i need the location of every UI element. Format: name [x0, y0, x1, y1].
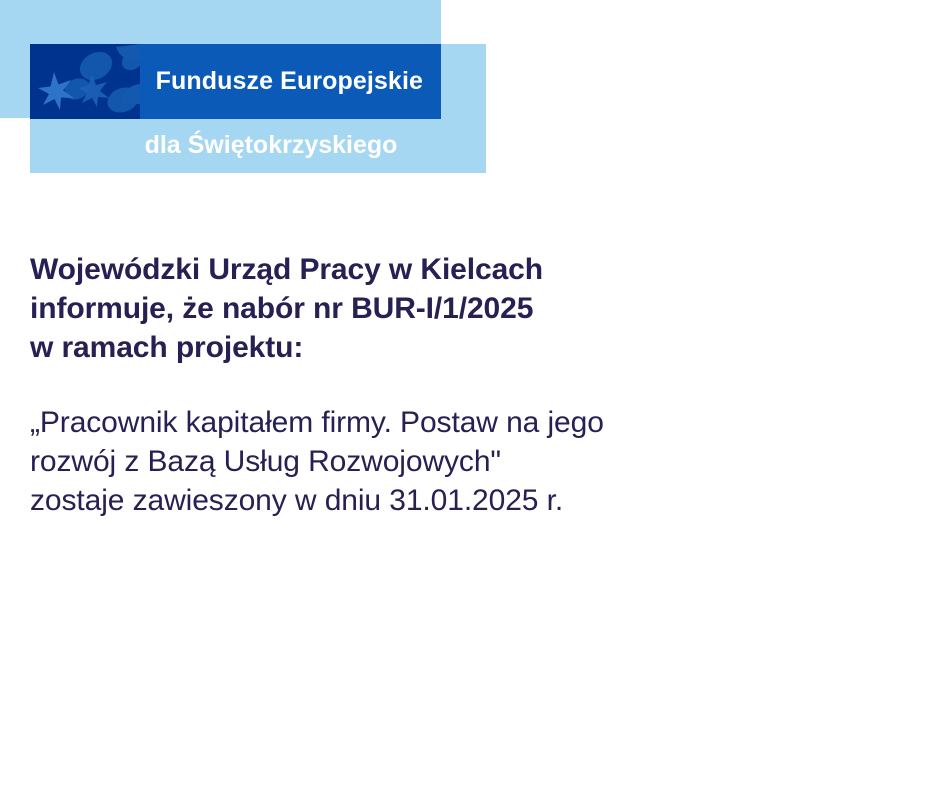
announcement-body: „Pracownik kapitałem firmy. Postaw na je… — [30, 403, 890, 520]
footer-logo-strip: Fundusze Europejskie dla Świętokrzyskieg… — [0, 678, 940, 788]
brand-plate-spur — [441, 44, 486, 118]
header-brand-block: Fundusze Europejskie dla Świętokrzyskieg… — [0, 0, 486, 174]
fe-subline: dla Świętokrzyskiego — [30, 118, 486, 173]
eu-stars-mark-icon — [30, 44, 140, 119]
fe-wordmark: Fundusze Europejskie — [140, 44, 441, 119]
announcement-headline: Wojewódzki Urząd Pracy w Kielcachinformu… — [30, 250, 890, 367]
fe-brand-name: Fundusze Europejskie — [156, 67, 423, 96]
announcement-message: Wojewódzki Urząd Pracy w Kielcachinformu… — [30, 250, 890, 520]
fundusze-europejskie-logo: Fundusze Europejskie — [30, 44, 441, 119]
poster-canvas: Fundusze Europejskie dla Świętokrzyskieg… — [0, 0, 940, 788]
fe-subline-text: dla Świętokrzyskiego — [119, 131, 398, 160]
